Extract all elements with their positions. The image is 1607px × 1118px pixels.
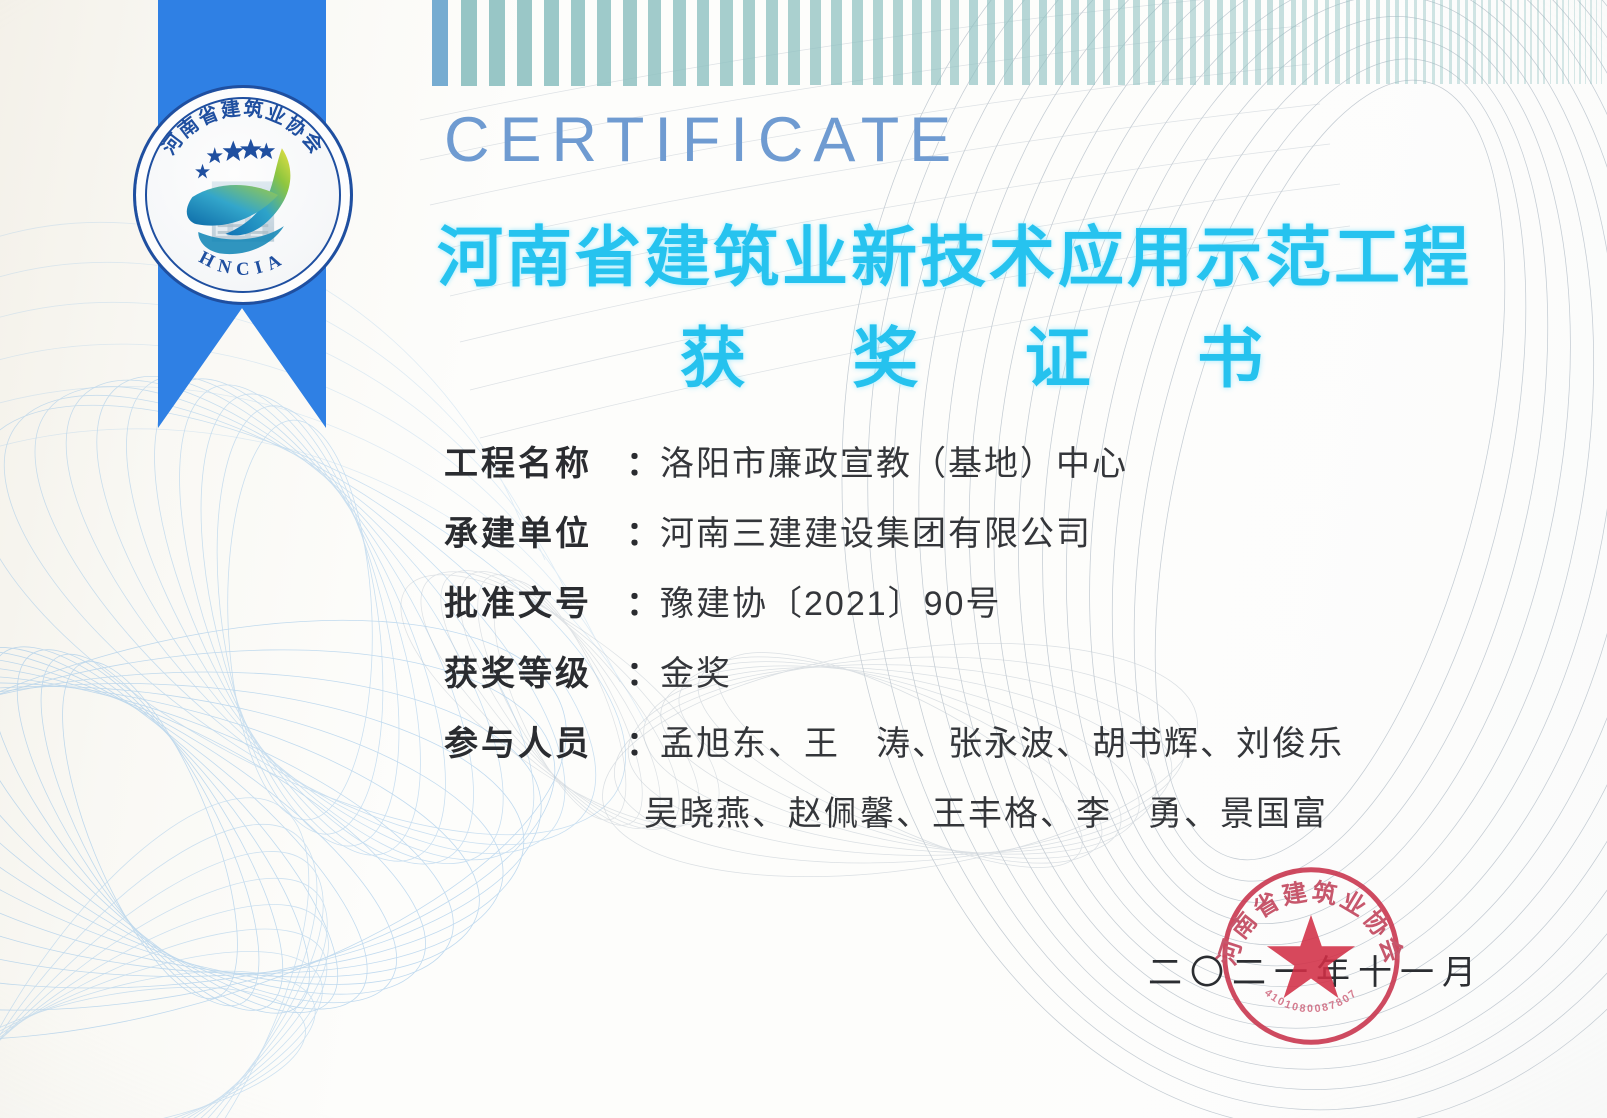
stripe-bar bbox=[1550, 0, 1552, 84]
field-value: 河南三建建设集团有限公司 bbox=[660, 506, 1092, 555]
stripe-bar bbox=[623, 0, 637, 86]
field-row-project-name: 工程名称 ： 洛阳市廉政宣教（基地）中心 bbox=[444, 436, 1444, 506]
stripe-bar bbox=[1543, 0, 1545, 84]
stripe-bar bbox=[1449, 0, 1452, 84]
stripe-bar bbox=[1055, 0, 1063, 85]
stripe-bar bbox=[1590, 0, 1591, 84]
top-stripe-band bbox=[432, 0, 1607, 86]
page-title-chinese-line1: 河南省建筑业新技术应用示范工程 bbox=[437, 204, 1472, 300]
stripe-bar bbox=[1087, 0, 1095, 85]
stripe-bar bbox=[950, 0, 959, 85]
emblem-ring-text-cn: 河南省建筑业协会 bbox=[158, 97, 329, 159]
stripe-bar bbox=[1432, 0, 1435, 84]
stripe-bar bbox=[852, 0, 863, 85]
stripe-bar bbox=[1496, 0, 1498, 84]
page-title-chinese-line2: 获 奖 证 书 bbox=[680, 305, 1307, 401]
stripe-bar bbox=[873, 0, 883, 85]
field-row-approval-document-number: 批准文号 ： 豫建协〔2021〕90号 bbox=[444, 576, 1444, 646]
stripe-bar bbox=[931, 0, 941, 85]
svg-text:河南省建筑业协会: 河南省建筑业协会 bbox=[158, 97, 329, 159]
field-value: 洛阳市廉政宣教（基地）中心 bbox=[660, 436, 1128, 485]
stripe-bar bbox=[810, 0, 821, 85]
stripe-bar bbox=[1423, 0, 1426, 84]
stripe-bar bbox=[1004, 0, 1013, 85]
stripe-bar bbox=[1530, 0, 1532, 84]
field-value: 金奖 bbox=[660, 646, 732, 695]
stripe-bar bbox=[1481, 0, 1484, 84]
stripe-bar bbox=[1204, 0, 1210, 85]
field-label: 承建单位 bbox=[444, 506, 626, 555]
field-label: 批准文号 bbox=[444, 576, 626, 625]
field-colon: ： bbox=[626, 506, 660, 555]
stripe-bar bbox=[597, 0, 611, 86]
stripe-bar bbox=[1217, 0, 1223, 85]
stripe-bar bbox=[571, 0, 585, 86]
stripe-bar bbox=[1162, 0, 1169, 85]
stripe-bar bbox=[1148, 0, 1155, 85]
stripe-bar bbox=[461, 0, 477, 86]
stripe-bar bbox=[720, 0, 732, 86]
stripe-bar bbox=[1488, 0, 1491, 84]
field-colon: ： bbox=[626, 576, 660, 625]
stripe-bar bbox=[1601, 0, 1602, 84]
stripe-bar bbox=[1440, 0, 1443, 84]
stripe-bar bbox=[1386, 0, 1390, 84]
stripe-bar bbox=[1335, 0, 1339, 84]
stripe-bar bbox=[1291, 0, 1296, 85]
stripe-bar bbox=[1314, 0, 1319, 85]
stripe-bar bbox=[1465, 0, 1468, 84]
stripe-bar bbox=[893, 0, 903, 85]
stripe-bar bbox=[1510, 0, 1512, 84]
field-row-participants: 参与人员 ： 孟旭东、王 涛、张永波、胡书辉、刘俊乐 bbox=[444, 716, 1444, 786]
stripe-bar bbox=[1376, 0, 1380, 84]
stripe-bar bbox=[1133, 0, 1140, 85]
stripe-bar bbox=[1039, 0, 1047, 85]
stripe-bar bbox=[1356, 0, 1360, 84]
participants-continuation-line: 吴晓燕、赵佩馨、王丰格、李 勇、景国富 bbox=[644, 786, 1328, 835]
stripe-bar bbox=[1568, 0, 1570, 84]
stripe-bar bbox=[1562, 0, 1564, 84]
stripe-bar bbox=[489, 0, 504, 86]
stripe-bar bbox=[912, 0, 922, 85]
field-label: 获奖等级 bbox=[444, 646, 626, 695]
stripe-bar bbox=[1414, 0, 1417, 84]
stripe-bar bbox=[1556, 0, 1558, 84]
stripe-bar bbox=[648, 0, 661, 86]
stripe-bar bbox=[1230, 0, 1236, 85]
stripe-bar bbox=[1255, 0, 1260, 85]
stripe-bar bbox=[1537, 0, 1539, 84]
stripe-bar bbox=[1190, 0, 1196, 85]
field-value: 孟旭东、王 涛、张永波、胡书辉、刘俊乐 bbox=[660, 716, 1344, 765]
stripe-bar bbox=[831, 0, 842, 85]
stripe-bar bbox=[432, 0, 448, 86]
stripe-bar bbox=[1071, 0, 1079, 85]
field-value: 豫建协〔2021〕90号 bbox=[660, 576, 1001, 625]
field-colon: ： bbox=[626, 646, 660, 695]
field-label: 参与人员 bbox=[444, 716, 626, 765]
stripe-bar bbox=[1118, 0, 1125, 85]
stripe-bar bbox=[788, 0, 799, 85]
emblem-group: 河南省建筑业协会 HNCIA bbox=[118, 0, 363, 440]
field-colon: ： bbox=[626, 716, 660, 765]
field-colon: ： bbox=[626, 436, 660, 485]
stripe-bar bbox=[1346, 0, 1350, 84]
svg-text:4101080087807: 4101080087807 bbox=[1262, 987, 1360, 1015]
stripe-bar bbox=[1395, 0, 1399, 84]
stripe-bar bbox=[1176, 0, 1183, 85]
official-red-chop-icon: 河南省建筑业协会 4101080087807 bbox=[1213, 858, 1409, 1054]
stripe-bar bbox=[1022, 0, 1030, 85]
field-row-award-grade: 获奖等级 ： 金奖 bbox=[444, 646, 1444, 716]
stripe-bar bbox=[969, 0, 978, 85]
stripe-bar bbox=[1457, 0, 1460, 84]
stripe-bar bbox=[673, 0, 686, 86]
stripe-bar bbox=[1267, 0, 1272, 85]
stripe-bar bbox=[1517, 0, 1519, 84]
stripe-bar bbox=[1473, 0, 1476, 84]
stripe-bar bbox=[1503, 0, 1505, 84]
stripe-bar bbox=[1279, 0, 1284, 85]
stripe-bar bbox=[1524, 0, 1526, 84]
page-title-english: CERTIFICATE bbox=[444, 104, 961, 176]
stripe-bar bbox=[1302, 0, 1307, 85]
stripe-bar bbox=[743, 0, 755, 85]
stripe-bar bbox=[1325, 0, 1330, 84]
stripe-bar bbox=[1596, 0, 1597, 84]
emblem-artwork: 河南省建筑业协会 HNCIA bbox=[136, 88, 350, 302]
field-list: 工程名称 ： 洛阳市廉政宣教（基地）中心 承建单位 ： 河南三建建设集团有限公司… bbox=[444, 436, 1444, 786]
red-chop-bottom-code: 4101080087807 bbox=[1262, 987, 1360, 1015]
stripe-bar bbox=[987, 0, 996, 85]
stripe-bar bbox=[697, 0, 710, 86]
field-row-contractor-unit: 承建单位 ： 河南三建建设集团有限公司 bbox=[444, 506, 1444, 576]
stripe-bar bbox=[766, 0, 778, 85]
stripe-bar bbox=[1585, 0, 1586, 84]
certificate-page: 河南省建筑业协会 HNCIA CERTIFICATE 河南省建筑业新技术应用示范… bbox=[0, 0, 1607, 1118]
red-chop-artwork: 河南省建筑业协会 4101080087807 bbox=[1213, 858, 1409, 1054]
stripe-bar bbox=[1405, 0, 1409, 84]
stripe-bar bbox=[544, 0, 559, 86]
stripe-bar bbox=[1103, 0, 1110, 85]
hncia-association-emblem-icon: 河南省建筑业协会 HNCIA bbox=[133, 85, 353, 305]
field-label: 工程名称 bbox=[444, 436, 626, 485]
stripe-bar bbox=[1243, 0, 1249, 85]
stripe-bar bbox=[517, 0, 532, 86]
stripe-bar bbox=[1579, 0, 1580, 84]
stripe-bar bbox=[1574, 0, 1575, 84]
stripe-bar bbox=[1366, 0, 1370, 84]
